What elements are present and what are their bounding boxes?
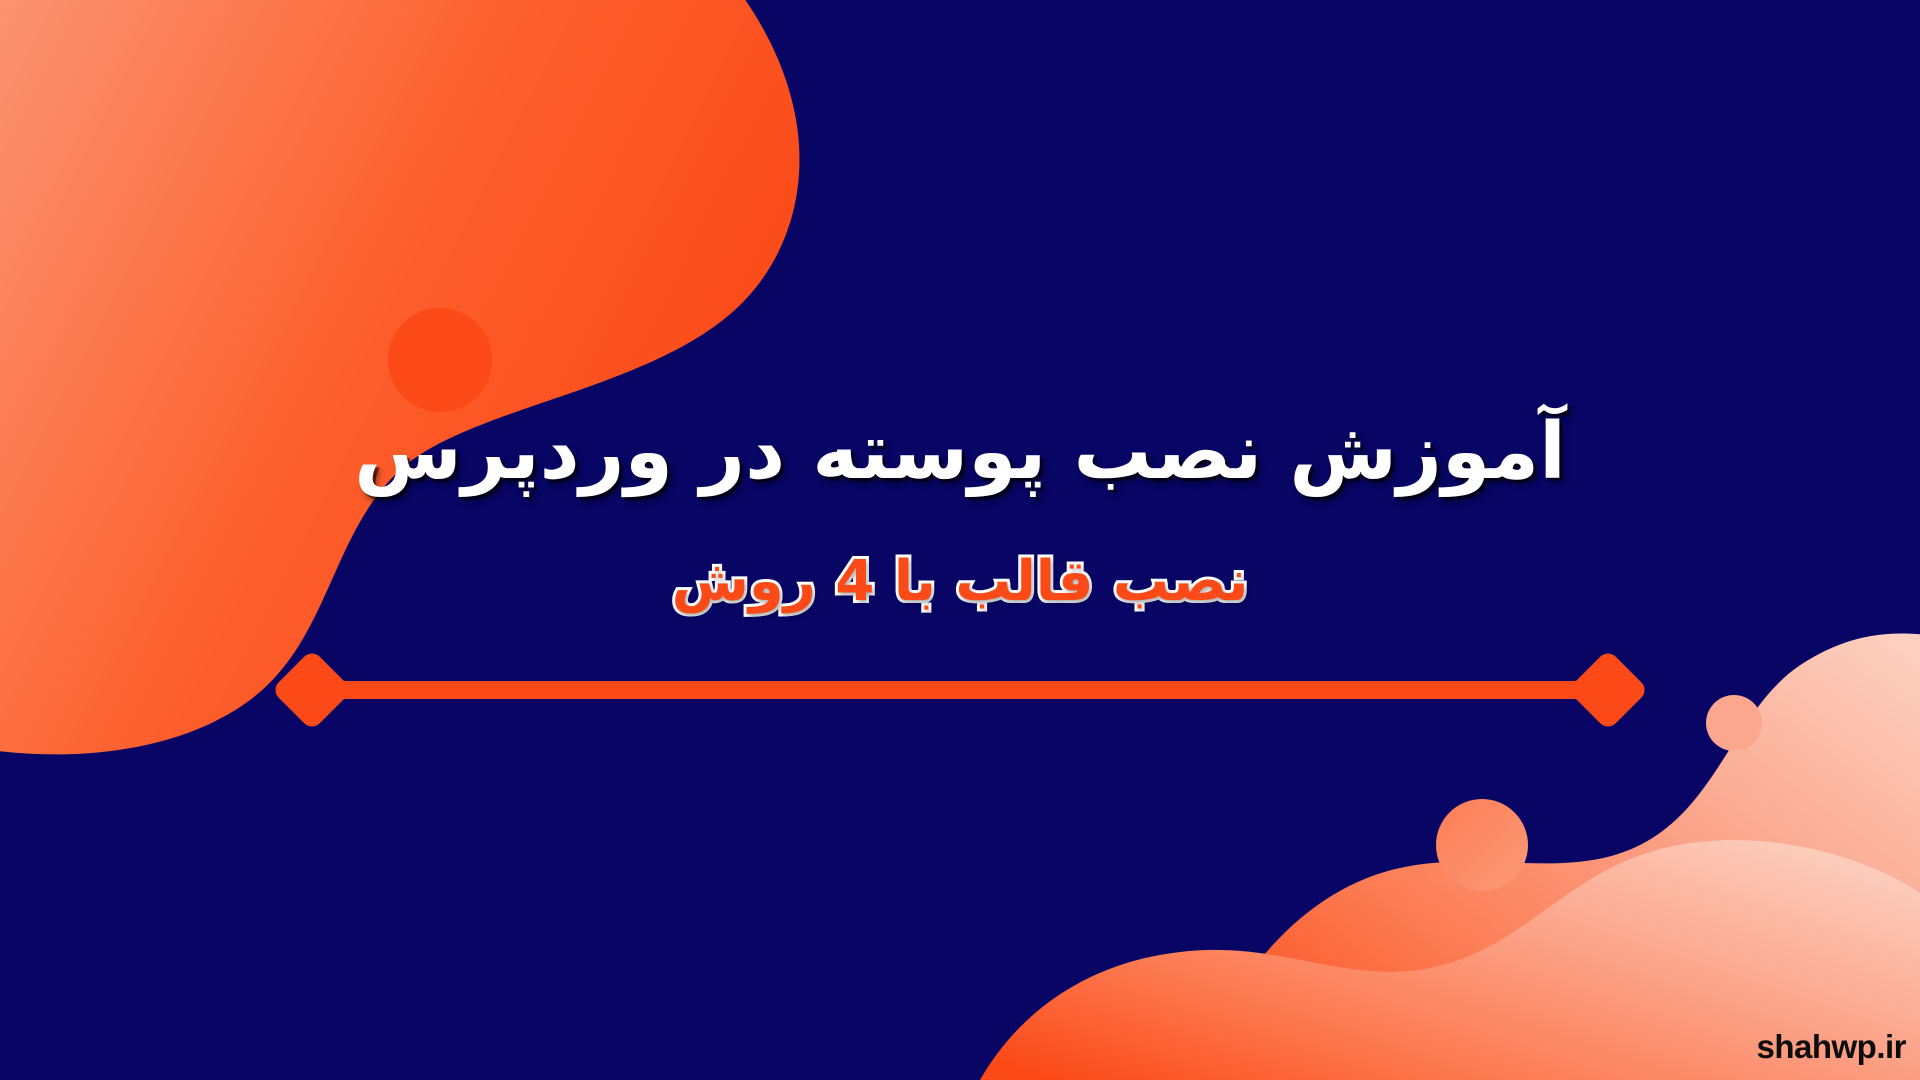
diamond-right-icon — [1567, 649, 1649, 731]
watermark-site-url: shahwp.ir — [1756, 1028, 1906, 1066]
banner-content: آموزش نصب پوسته در وردپرس نصب قالب با 4 … — [0, 0, 1920, 1080]
banner-canvas: آموزش نصب پوسته در وردپرس نصب قالب با 4 … — [0, 0, 1920, 1080]
divider-rule — [312, 681, 1608, 699]
page-title: آموزش نصب پوسته در وردپرس — [0, 406, 1920, 498]
decorative-divider — [288, 660, 1632, 720]
page-subtitle: نصب قالب با 4 روش — [0, 548, 1920, 615]
